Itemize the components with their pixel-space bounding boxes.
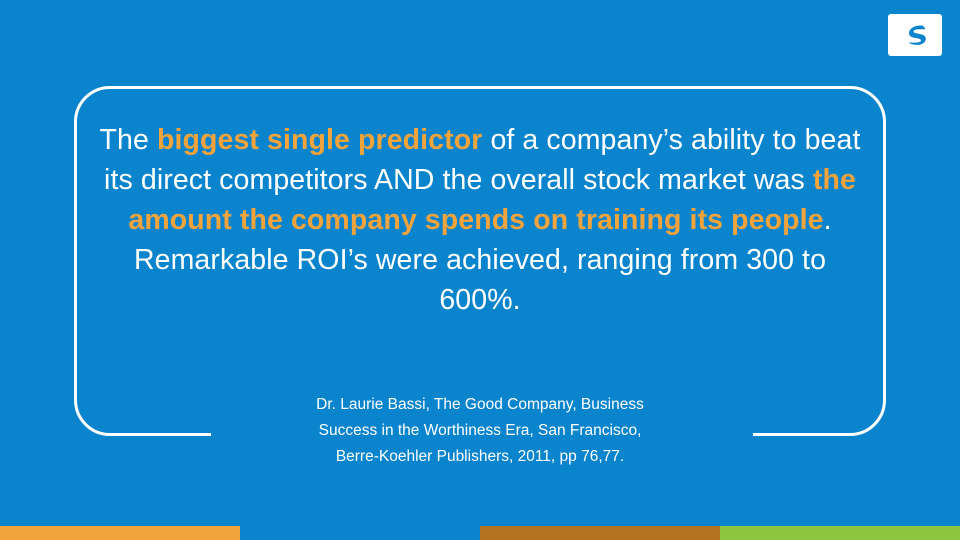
quote-segment-2-highlight: biggest single predictor [157, 124, 482, 156]
footer-bar-green [720, 526, 960, 540]
footer-bar-brown [480, 526, 720, 540]
attribution-line-2: Success in the Worthiness Era, San Franc… [74, 418, 886, 444]
footer-bar-orange [0, 526, 240, 540]
brand-logo [888, 14, 942, 56]
logo-mark-icon [909, 26, 926, 45]
quote-text: The biggest single predictor of a compan… [74, 120, 886, 320]
attribution-line-3: Berre-Koehler Publishers, 2011, pp 76,77… [74, 444, 886, 470]
slide-canvas: The biggest single predictor of a compan… [0, 0, 960, 540]
attribution-line-1: Dr. Laurie Bassi, The Good Company, Busi… [74, 392, 886, 418]
quote-attribution: Dr. Laurie Bassi, The Good Company, Busi… [74, 392, 886, 470]
quote-segment-1: The [100, 124, 157, 156]
